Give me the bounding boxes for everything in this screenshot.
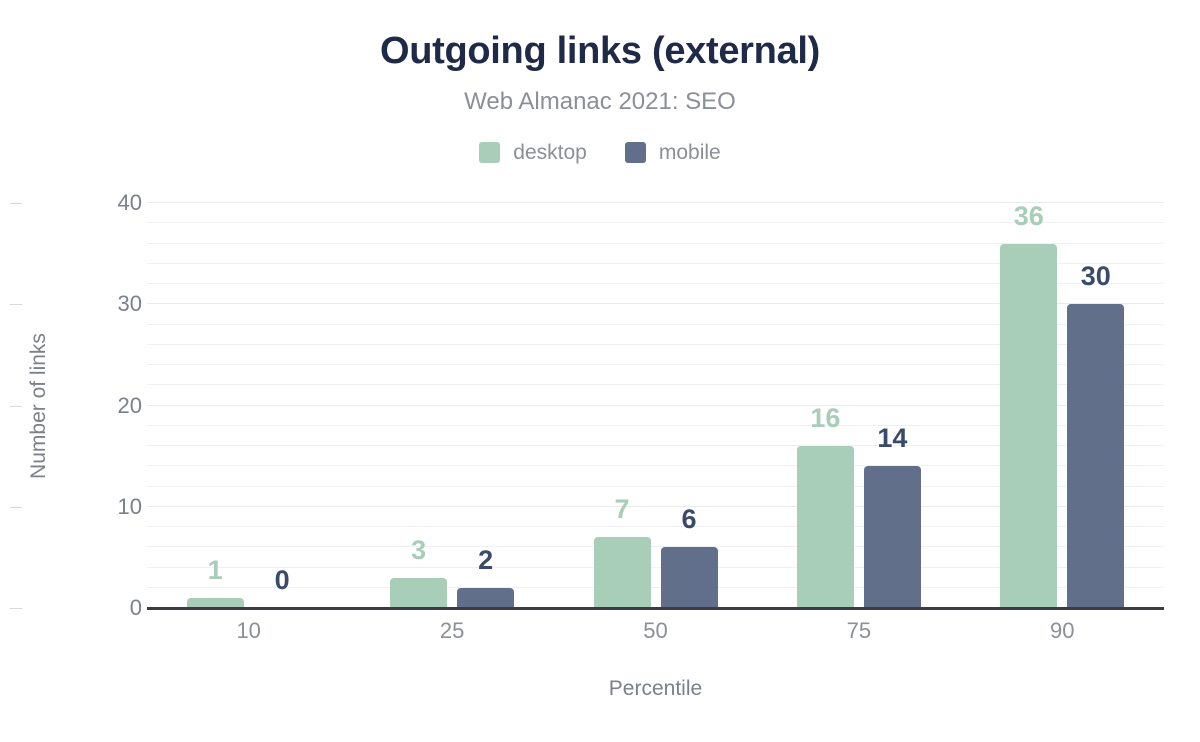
bar-label-mobile-p75: 14 [847,425,937,452]
chart-container: Outgoing links (external) Web Almanac 20… [0,0,1200,742]
legend-item-desktop[interactable]: desktop [479,142,587,163]
x-axis-title: Percentile [147,678,1164,699]
bar-mobile-p75[interactable] [864,466,921,608]
x-tick-label-p75: 75 [779,620,939,642]
bar-label-mobile-p50: 6 [644,506,734,533]
x-tick-label-p50: 50 [576,620,736,642]
legend-label-desktop: desktop [513,142,587,163]
y-tick-mark [10,203,22,204]
y-tick-mark [10,406,22,407]
bar-label-mobile-p10: 0 [237,567,327,594]
x-tick-label-p25: 25 [372,620,532,642]
chart-legend: desktopmobile [0,142,1200,163]
bar-desktop-p75[interactable] [797,446,854,608]
legend-label-mobile: mobile [659,142,721,163]
legend-swatch-desktop [479,142,500,163]
y-tick-label: 0 [22,597,142,619]
y-tick-label: 40 [22,192,142,214]
bar-desktop-p90[interactable] [1000,244,1057,609]
x-tick-label-p90: 90 [982,620,1142,642]
y-tick-mark [10,507,22,508]
bar-label-desktop-p90: 36 [984,203,1074,230]
legend-item-mobile[interactable]: mobile [625,142,721,163]
x-axis-line [147,607,1164,610]
bar-label-mobile-p25: 2 [441,547,531,574]
y-axis-title: Number of links [27,333,51,479]
bar-desktop-p25[interactable] [390,578,447,608]
y-tick-mark [10,608,22,609]
bar-mobile-p90[interactable] [1067,304,1124,608]
bar-mobile-p25[interactable] [457,588,514,608]
bar-mobile-p50[interactable] [661,547,718,608]
x-tick-label-p10: 10 [169,620,329,642]
legend-swatch-mobile [625,142,646,163]
chart-title: Outgoing links (external) [0,30,1200,73]
y-tick-mark [10,304,22,305]
y-tick-label: 30 [22,293,142,315]
plot-area: 010203040 Number of links 10327616143630 [147,203,1164,608]
bar-desktop-p50[interactable] [594,537,651,608]
y-tick-label: 10 [22,496,142,518]
bar-label-mobile-p90: 30 [1051,263,1141,290]
chart-subtitle: Web Almanac 2021: SEO [0,88,1200,116]
